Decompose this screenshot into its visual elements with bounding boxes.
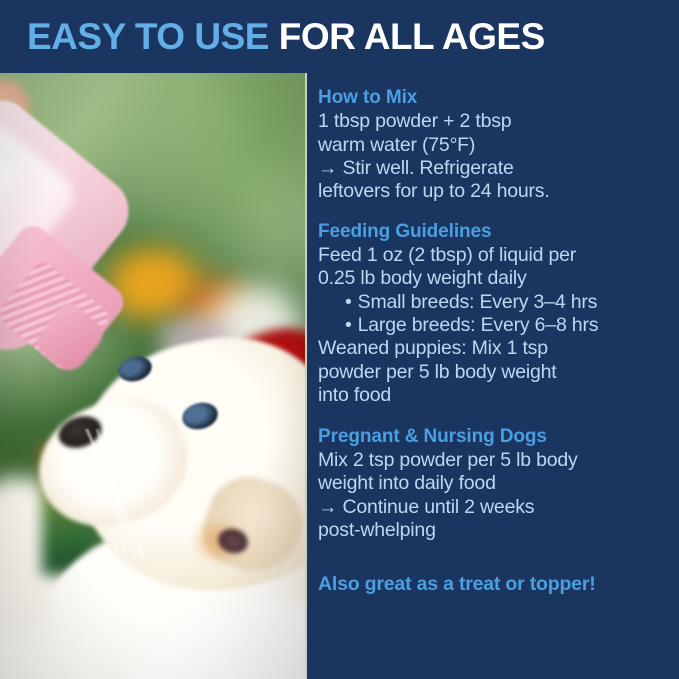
section-line: post-whelping (318, 519, 670, 542)
instructions-column: How to Mix 1 tbsp powder + 2 tbsp warm w… (318, 86, 670, 597)
section-line: warm water (75°F) (318, 134, 670, 157)
section-heading: Feeding Guidelines (318, 220, 670, 243)
section-bullet-label: Small breeds: Every 3–4 hrs (358, 291, 598, 313)
section-line: into food (318, 384, 670, 407)
section-line: Weaned puppies: Mix 1 tsp (318, 337, 670, 360)
section-bullet-item: •Large breeds: Every 6–8 hrs (318, 314, 670, 337)
section-line: weight into daily food (318, 472, 670, 495)
section-line: → Stir well. Refrigerate (318, 157, 670, 180)
section-line: powder per 5 lb body weight (318, 361, 670, 384)
section-pregnant-nursing-dogs: Pregnant & Nursing Dogs Mix 2 tsp powder… (318, 425, 670, 543)
page-title-plain: FOR ALL AGES (269, 16, 545, 57)
section-bullet-label: Large breeds: Every 6–8 hrs (358, 314, 599, 336)
photo-vignette (0, 73, 307, 679)
tagline: Also great as a treat or topper! (318, 573, 670, 596)
section-line: 1 tbsp powder + 2 tbsp (318, 110, 670, 133)
page-title: EASY TO USE FOR ALL AGES (27, 18, 545, 55)
section-line: leftovers for up to 24 hours. (318, 180, 670, 203)
section-heading: How to Mix (318, 86, 670, 109)
bullet-icon: • (345, 291, 352, 313)
section-line: → Continue until 2 weeks (318, 496, 670, 519)
page-title-accent: EASY TO USE (27, 16, 269, 57)
puppy-photo (0, 73, 307, 679)
section-line: 0.25 lb body weight daily (318, 267, 670, 290)
infographic-card: EASY TO USE FOR ALL AGES (0, 0, 679, 679)
section-feeding-guidelines: Feeding Guidelines Feed 1 oz (2 tbsp) of… (318, 220, 670, 408)
section-bullet-item: •Small breeds: Every 3–4 hrs (318, 291, 670, 314)
header-bar: EASY TO USE FOR ALL AGES (0, 0, 679, 73)
section-heading: Pregnant & Nursing Dogs (318, 425, 670, 448)
section-line: Mix 2 tsp powder per 5 lb body (318, 449, 670, 472)
section-how-to-mix: How to Mix 1 tbsp powder + 2 tbsp warm w… (318, 86, 670, 204)
section-line: Feed 1 oz (2 tbsp) of liquid per (318, 244, 670, 267)
bullet-icon: • (345, 314, 352, 336)
